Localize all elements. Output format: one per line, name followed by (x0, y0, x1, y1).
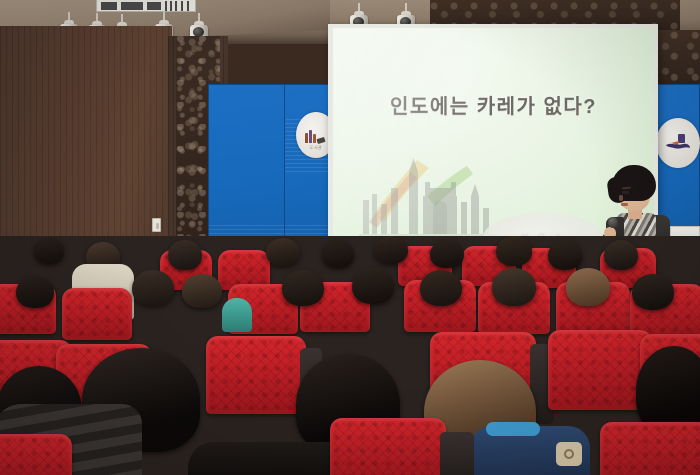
audience-head (632, 274, 674, 310)
audience-badge-patch (556, 442, 582, 466)
slide-title: 인도에는 카레가 없다? (333, 90, 654, 119)
audience-head (374, 236, 408, 264)
audience-head (16, 276, 54, 308)
seat (600, 422, 700, 475)
seat (206, 336, 306, 414)
audience-head (566, 268, 610, 306)
audience-head (182, 274, 222, 308)
audience-head (496, 236, 532, 266)
audience-head (492, 268, 536, 306)
audience-head (132, 270, 174, 306)
lecture-hall-photo: 도서관 인도에는 카레가 없다? (0, 0, 700, 475)
audience-head (430, 240, 464, 268)
audience-head (282, 270, 324, 306)
seat (62, 288, 132, 340)
audience-head (322, 240, 354, 268)
seat (330, 418, 446, 475)
seat (0, 434, 72, 475)
emblem-figure-icon (663, 131, 693, 155)
book-stack-icon (305, 127, 327, 143)
wall-outlet (152, 218, 161, 232)
audience-head (420, 270, 462, 306)
audience-head (168, 240, 202, 270)
institution-emblem-logo (656, 118, 700, 168)
microphone-head-icon (608, 217, 618, 228)
audience-scarf-blue (486, 422, 540, 436)
speaker-nose (619, 195, 623, 201)
audience-head (604, 240, 638, 270)
speaker-mouth (621, 203, 628, 206)
audience-body (222, 298, 252, 332)
audience-head (266, 238, 300, 266)
seat-armrest (440, 432, 474, 475)
audience-area (0, 236, 700, 475)
speaker-hair-side (606, 176, 627, 204)
audience-head (548, 240, 582, 270)
audience-head (352, 268, 394, 304)
speaker-eye (622, 191, 629, 194)
ceiling-poster (96, 0, 196, 12)
audience-head (34, 238, 64, 264)
